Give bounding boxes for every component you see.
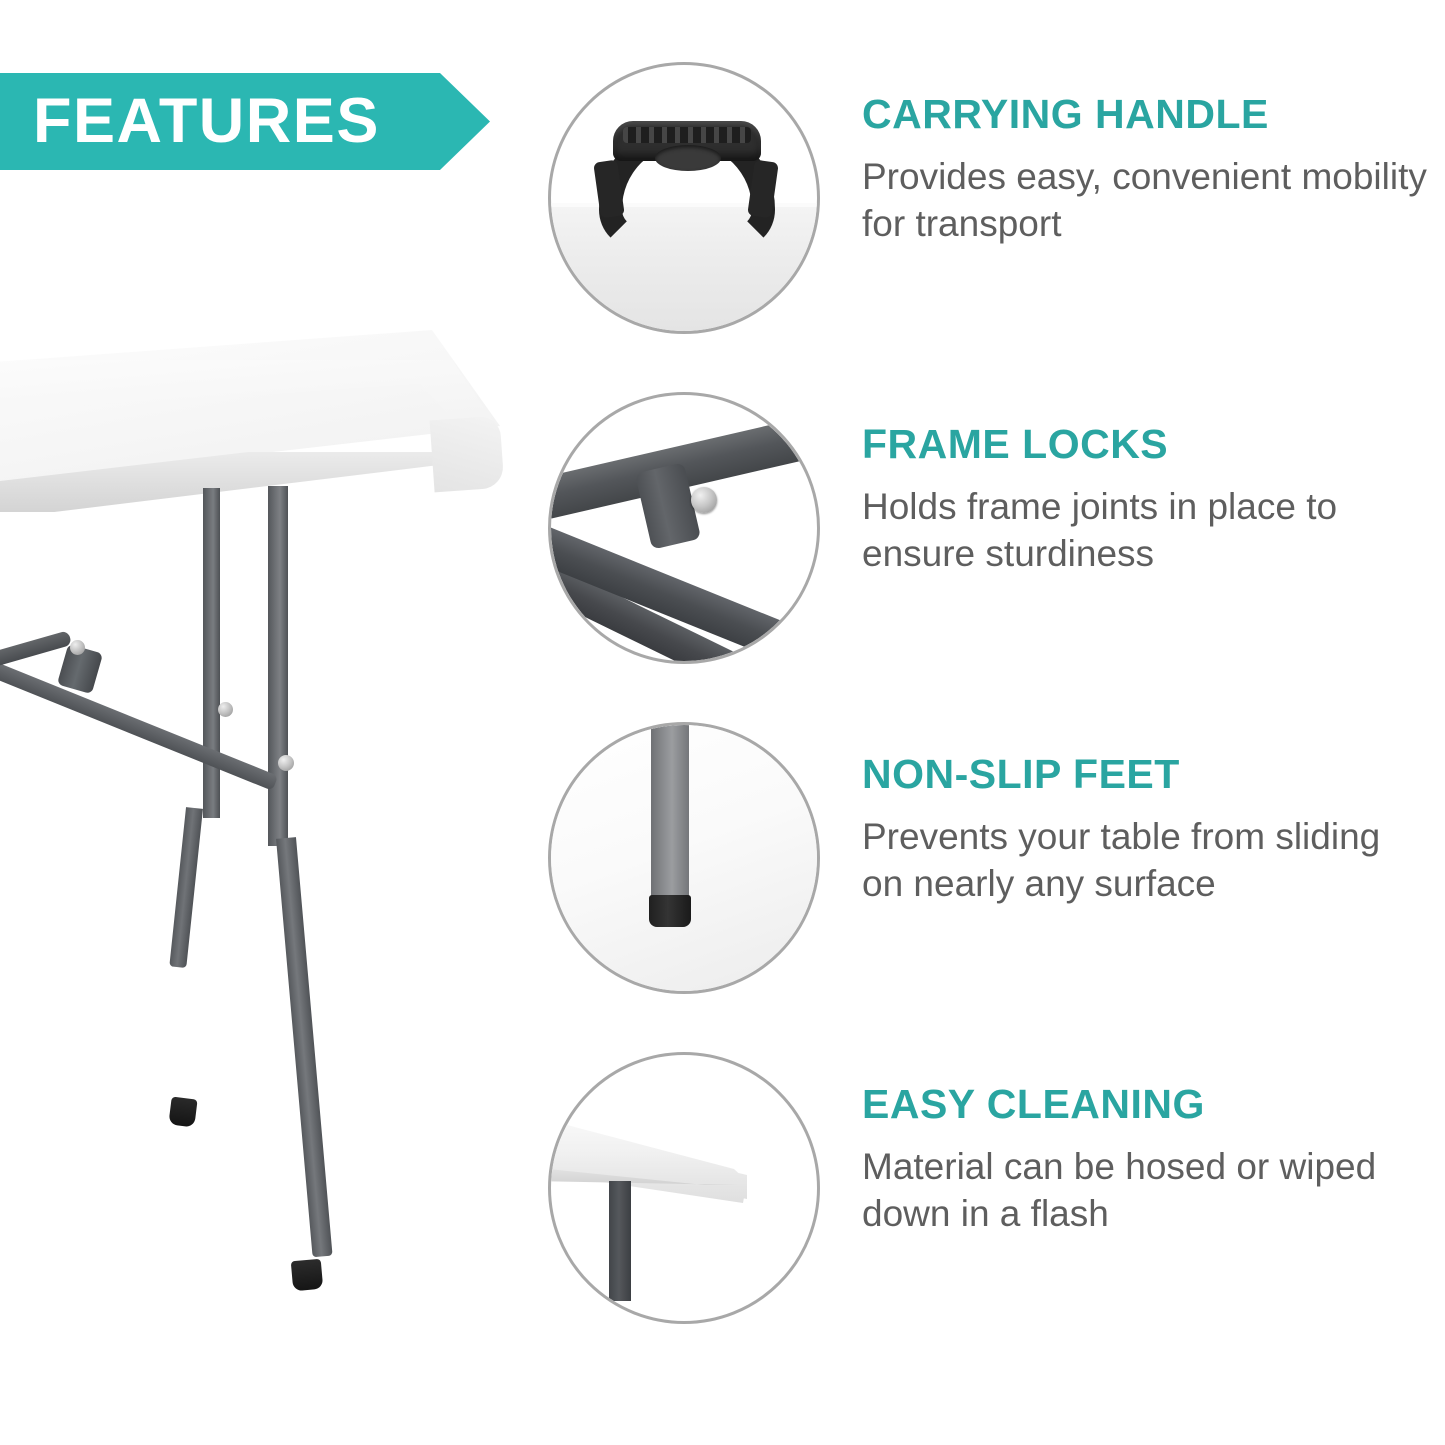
feature-row-carrying-handle: CARRYING HANDLE Provides easy, convenien… [548,62,1428,352]
features-infographic: FEATURES [0,0,1445,1445]
feature-text-carrying-handle: CARRYING HANDLE Provides easy, convenien… [820,62,1428,248]
easy-cleaning-icon [548,1052,820,1324]
brace-rivet [278,755,294,771]
lock-rivet-shape [691,487,717,513]
feature-title: EASY CLEANING [862,1082,1428,1127]
table-leg-shape [651,725,689,901]
feature-description: Holds frame joints in place to ensure st… [862,483,1428,578]
frame-locks-icon [548,392,820,664]
rubber-foot-left [168,1097,197,1128]
cross-brace-main [0,649,278,791]
feature-title: FRAME LOCKS [862,422,1428,467]
brace-rivet [218,702,233,717]
table-leg-shape [609,1181,631,1301]
feature-title: CARRYING HANDLE [862,92,1428,137]
feature-text-non-slip-feet: NON-SLIP FEET Prevents your table from s… [820,722,1428,908]
handle-center-oval [655,145,721,171]
folding-table-photo [0,330,520,1340]
rubber-foot-right [291,1259,324,1292]
features-banner: FEATURES [0,73,490,170]
tabletop-corner [430,416,505,493]
feature-row-frame-locks: FRAME LOCKS Holds frame joints in place … [548,392,1428,682]
feature-title: NON-SLIP FEET [862,752,1428,797]
table-leg-lower-left [169,807,203,968]
rubber-foot-shape [649,895,691,927]
feature-text-frame-locks: FRAME LOCKS Holds frame joints in place … [820,392,1428,578]
table-leg-lower-right [276,837,333,1257]
handle-ribs-shape [623,127,751,143]
feature-text-easy-cleaning: EASY CLEANING Material can be hosed or w… [820,1052,1428,1238]
non-slip-feet-icon [548,722,820,994]
feature-description: Prevents your table from sliding on near… [862,813,1428,908]
table-leg-upper-right [268,486,288,846]
floor-shading [0,1030,520,1340]
tabletop-slab-shape [551,1111,761,1211]
feature-description: Provides easy, convenient mobility for t… [862,153,1428,248]
features-banner-label: FEATURES [33,90,380,153]
feature-row-non-slip-feet: NON-SLIP FEET Prevents your table from s… [548,722,1428,1012]
brace-rivet [70,640,85,655]
carrying-handle-icon [548,62,820,334]
feature-row-easy-cleaning: EASY CLEANING Material can be hosed or w… [548,1052,1428,1342]
feature-description: Material can be hosed or wiped down in a… [862,1143,1428,1238]
